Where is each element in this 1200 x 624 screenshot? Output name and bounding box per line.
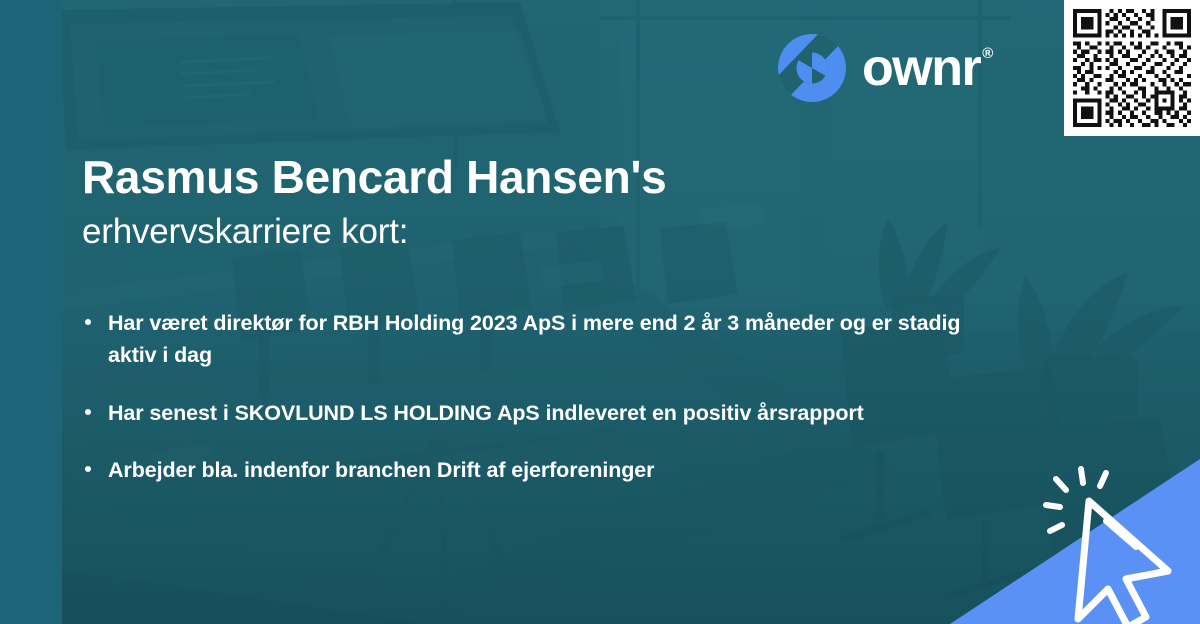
list-item-text: Arbejder bla. indenfor branchen Drift af… [108,458,654,482]
qr-code-matrix [1073,9,1191,127]
ownr-circle-swirl-icon [778,34,846,102]
bullet-dot-icon [85,409,91,415]
ownr-logo: ownr ® [778,33,992,103]
list-item-text: Har været direktør for RBH Holding 2023 … [108,311,960,367]
list-item-text: Har senest i SKOVLUND LS HOLDING ApS ind… [108,401,864,425]
ownr-career-card: ownr ® [0,0,1200,624]
bullet-dot-icon [85,319,91,325]
bullet-dot-icon [85,466,91,472]
title-line-name: Rasmus Bencard Hansen's [82,152,982,204]
page-title: Rasmus Bencard Hansen's erhvervskarriere… [82,152,982,253]
list-item: Har været direktør for RBH Holding 2023 … [82,308,962,372]
list-item: Arbejder bla. indenfor branchen Drift af… [82,455,962,487]
registered-trademark-symbol: ® [982,46,992,61]
ownr-wordmark: ownr ® [862,42,992,94]
title-line-subtitle: erhvervskarriere kort: [82,211,982,253]
qr-code[interactable] [1064,0,1200,136]
list-item: Har senest i SKOVLUND LS HOLDING ApS ind… [82,398,962,430]
career-highlights-list: Har været direktør for RBH Holding 2023 … [82,308,962,487]
wordmark-text: ownr [862,42,980,94]
left-accent-band [0,0,62,624]
